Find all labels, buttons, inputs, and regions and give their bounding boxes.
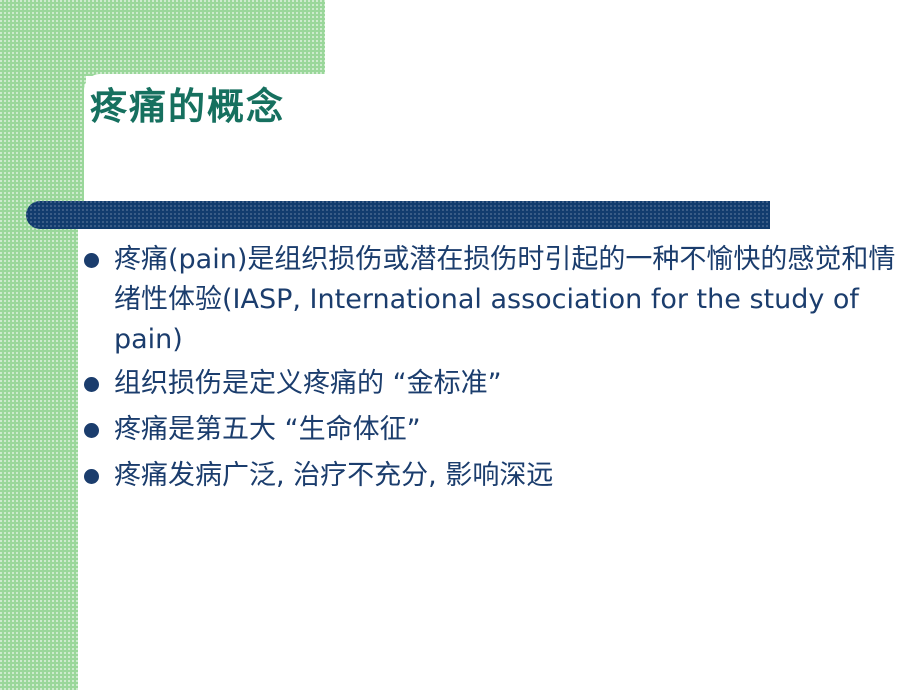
navy-accent-bar — [26, 201, 770, 229]
bullet-text: 组织损伤是定义疼痛的 “金标准” — [114, 364, 908, 404]
slide-title: 疼痛的概念 — [90, 86, 285, 127]
bullet-list: 疼痛(pain)是组织损伤或潜在损伤时引起的一种不愉快的感觉和情绪性体验(IAS… — [78, 240, 908, 502]
bullet-marker-icon — [84, 423, 99, 438]
bullet-text: 疼痛是第五大 “生命体征” — [114, 410, 908, 450]
bullet-marker-icon — [84, 377, 99, 392]
bullet-marker-icon — [84, 253, 99, 268]
bullet-item-definition: 疼痛(pain)是组织损伤或潜在损伤时引起的一种不愉快的感觉和情绪性体验(IAS… — [78, 240, 908, 360]
green-title-band — [0, 76, 86, 211]
bullet-item-fifth-vital-sign: 疼痛是第五大 “生命体征” — [78, 410, 908, 450]
presentation-slide: 疼痛的概念 疼痛(pain)是组织损伤或潜在损伤时引起的一种不愉快的感觉和情绪性… — [0, 0, 920, 690]
green-corner-block — [0, 0, 325, 76]
bullet-item-prevalence: 疼痛发病广泛, 治疗不充分, 影响深远 — [78, 456, 908, 496]
bullet-marker-icon — [84, 469, 99, 484]
bullet-text: 疼痛发病广泛, 治疗不充分, 影响深远 — [114, 456, 908, 496]
bullet-item-gold-standard: 组织损伤是定义疼痛的 “金标准” — [78, 364, 908, 404]
bullet-text: 疼痛(pain)是组织损伤或潜在损伤时引起的一种不愉快的感觉和情绪性体验(IAS… — [114, 240, 908, 360]
